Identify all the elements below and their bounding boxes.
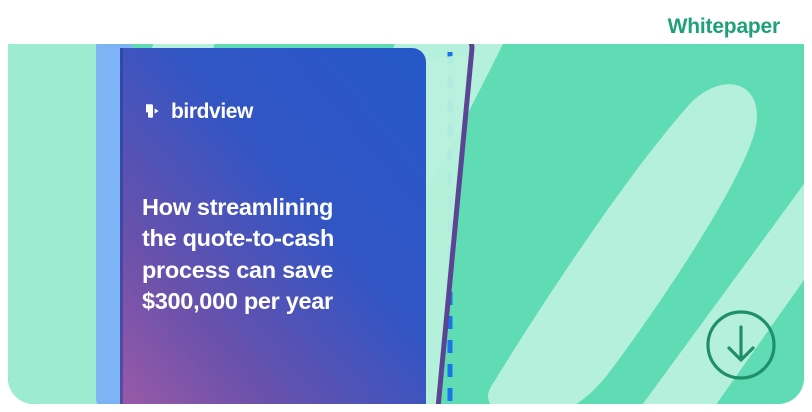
birdview-logo: birdview — [142, 100, 253, 122]
book-cover-content: birdview How streamlining the quote-to-c… — [120, 44, 422, 404]
birdview-logo-text: birdview — [171, 101, 253, 122]
download-button[interactable] — [705, 309, 777, 381]
birdview-bird-icon — [142, 100, 164, 122]
header-band: Whitepaper — [8, 8, 804, 44]
book-title-line-4: $300,000 per year — [142, 286, 412, 317]
book-title-line-2: the quote-to-cash — [142, 223, 412, 254]
book-title: How streamlining the quote-to-cash proce… — [142, 192, 412, 317]
book-title-line-1: How streamlining — [142, 192, 412, 223]
whitepaper-card: birdview How streamlining the quote-to-c… — [8, 8, 804, 404]
book-title-line-3: process can save — [142, 255, 412, 286]
content-type-label: Whitepaper — [668, 15, 780, 39]
download-icon[interactable] — [705, 309, 777, 381]
